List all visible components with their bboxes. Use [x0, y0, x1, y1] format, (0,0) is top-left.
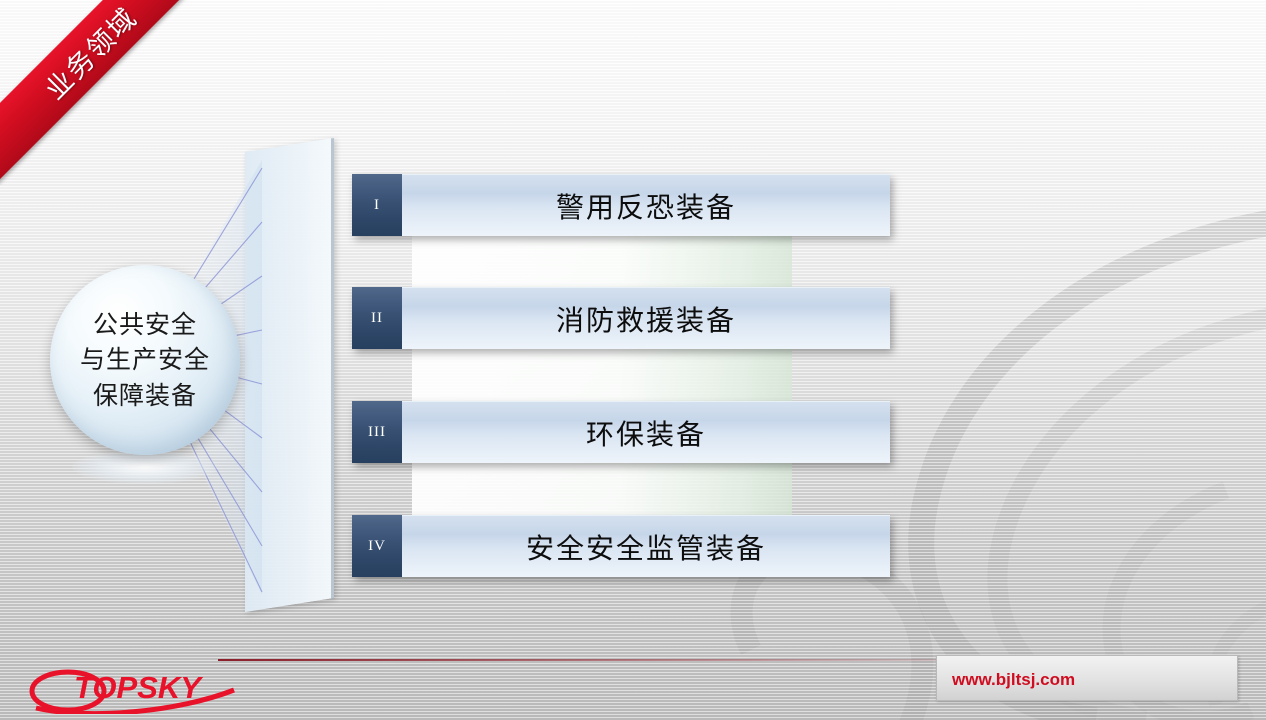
logo-text: TOPSKY [74, 670, 201, 706]
slide-canvas: 业务领域 [0, 0, 1266, 720]
item-label-4: 安全安全监管装备 [402, 515, 890, 577]
sphere-shadow [72, 450, 218, 484]
item-bar-list: I 警用反恐装备 II 消防救援装备 III 环保装备 IV 安全安全监管装备 [352, 170, 912, 580]
item-numeral-4: IV [352, 515, 402, 577]
sphere-line-3: 保障装备 [80, 378, 210, 414]
corner-ribbon: 业务领域 [0, 0, 230, 185]
item-label-3: 环保装备 [402, 401, 890, 463]
cone-graphic: 公共安全 与生产安全 保障装备 [30, 140, 360, 620]
item-bar-4[interactable]: IV 安全安全监管装备 [352, 515, 890, 577]
item-numeral-1: I [352, 174, 402, 236]
ribbon-label: 业务领域 [35, 0, 145, 106]
item-numeral-3: III [352, 401, 402, 463]
topsky-logo: TOPSKY [28, 668, 238, 714]
item-bar-1[interactable]: I 警用反恐装备 [352, 174, 890, 236]
sphere-line-2: 与生产安全 [80, 342, 210, 378]
item-bar-2[interactable]: II 消防救援装备 [352, 287, 890, 349]
footer-divider [218, 659, 938, 661]
center-sphere: 公共安全 与生产安全 保障装备 [50, 265, 240, 455]
item-label-1: 警用反恐装备 [402, 174, 890, 236]
sphere-text: 公共安全 与生产安全 保障装备 [80, 307, 210, 414]
sphere-line-1: 公共安全 [80, 307, 210, 343]
item-label-2: 消防救援装备 [402, 287, 890, 349]
ribbon-banner: 业务领域 [0, 0, 203, 185]
item-bar-3[interactable]: III 环保装备 [352, 401, 890, 463]
website-url[interactable]: www.bjltsj.com [952, 670, 1075, 690]
item-numeral-2: II [352, 287, 402, 349]
